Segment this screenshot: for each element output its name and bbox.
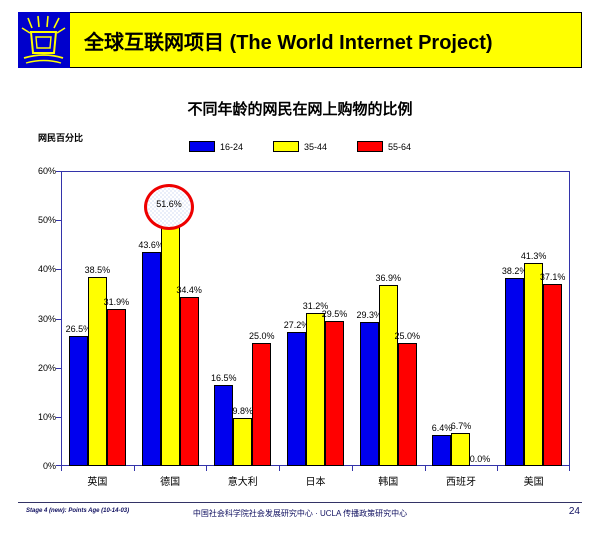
bar-group-意大利: 16.5%9.8%25.0% bbox=[206, 171, 279, 466]
bar-rect bbox=[451, 433, 470, 466]
footer-divider bbox=[18, 502, 582, 503]
bar-rect bbox=[379, 285, 398, 466]
x-tick-label-意大利: 意大利 bbox=[206, 473, 279, 488]
bar-rect bbox=[432, 435, 451, 466]
bar-意大利-35-44: 9.8% bbox=[233, 171, 252, 466]
bar-value-label: 9.8% bbox=[233, 406, 254, 416]
bar-rect bbox=[161, 212, 180, 466]
y-axis-tick-labels: 0%10%20%30%40%50%60% bbox=[22, 171, 56, 466]
bar-rect bbox=[107, 309, 126, 466]
bar-美国-55-64: 37.1% bbox=[543, 171, 562, 466]
bar-rect bbox=[325, 321, 344, 466]
bar-rect bbox=[505, 278, 524, 466]
x-tick-label-韩国: 韩国 bbox=[352, 473, 425, 488]
bar-意大利-55-64: 25.0% bbox=[252, 171, 271, 466]
bar-rect bbox=[524, 263, 543, 466]
x-tick-label-西班牙: 西班牙 bbox=[425, 473, 498, 488]
bar-value-label: 6.4% bbox=[432, 423, 453, 433]
bar-美国-16-24: 38.2% bbox=[505, 171, 524, 466]
bar-rect bbox=[142, 252, 161, 466]
bar-西班牙-16-24: 6.4% bbox=[432, 171, 451, 466]
x-tick-mark bbox=[425, 466, 426, 471]
footer-center-text: 中国社会科学院社会发展研究中心 · UCLA 传播政策研究中心 bbox=[0, 508, 600, 519]
bar-rect bbox=[398, 343, 417, 466]
bar-rect bbox=[543, 284, 562, 466]
legend-item-35-44: 35-44 bbox=[273, 141, 327, 152]
footer-page-number: 24 bbox=[569, 506, 580, 517]
y-tick-label: 10% bbox=[22, 412, 56, 422]
bar-value-label: 25.0% bbox=[394, 331, 420, 341]
legend-label-35-44: 35-44 bbox=[304, 142, 327, 152]
bar-value-label: 29.5% bbox=[322, 309, 348, 319]
bar-rect bbox=[287, 332, 306, 466]
bar-rect bbox=[360, 322, 379, 466]
bar-英国-16-24: 26.5% bbox=[69, 171, 88, 466]
bar-德国-55-64: 34.4% bbox=[180, 171, 199, 466]
monitor-rays-icon bbox=[18, 12, 70, 68]
bar-group-西班牙: 6.4%6.7%0.0% bbox=[425, 171, 498, 466]
bar-groups: 26.5%38.5%31.9%43.6%51.6%34.4%16.5%9.8%2… bbox=[61, 171, 570, 466]
x-tick-label-德国: 德国 bbox=[134, 473, 207, 488]
bar-德国-35-44: 51.6% bbox=[161, 171, 180, 466]
x-axis-tick-labels: 英国德国意大利日本韩国西班牙美国 bbox=[61, 473, 570, 488]
bar-意大利-16-24: 16.5% bbox=[214, 171, 233, 466]
bar-美国-35-44: 41.3% bbox=[524, 171, 543, 466]
bar-韩国-16-24: 29.3% bbox=[360, 171, 379, 466]
x-tick-label-美国: 美国 bbox=[497, 473, 570, 488]
chart-legend: 16-2435-4455-64 bbox=[0, 141, 600, 152]
slide-title-banner: 全球互联网项目 (The World Internet Project) bbox=[18, 12, 582, 68]
bar-韩国-35-44: 36.9% bbox=[379, 171, 398, 466]
bar-group-日本: 27.2%31.2%29.5% bbox=[279, 171, 352, 466]
bar-rect bbox=[214, 385, 233, 466]
x-tick-mark bbox=[279, 466, 280, 471]
bar-西班牙-55-64: 0.0% bbox=[470, 171, 489, 466]
bar-group-英国: 26.5%38.5%31.9% bbox=[61, 171, 134, 466]
x-tick-mark bbox=[497, 466, 498, 471]
bar-日本-55-64: 29.5% bbox=[325, 171, 344, 466]
legend-label-16-24: 16-24 bbox=[220, 142, 243, 152]
x-tick-mark bbox=[206, 466, 207, 471]
bar-rect bbox=[233, 418, 252, 466]
banner-title-area: 全球互联网项目 (The World Internet Project) bbox=[70, 12, 582, 68]
bar-value-label: 6.7% bbox=[451, 421, 472, 431]
bar-value-label: 31.9% bbox=[104, 297, 130, 307]
legend-item-16-24: 16-24 bbox=[189, 141, 243, 152]
bar-rect bbox=[69, 336, 88, 466]
bar-英国-55-64: 31.9% bbox=[107, 171, 126, 466]
legend-swatch-55-64 bbox=[357, 141, 383, 152]
y-tick-label: 0% bbox=[22, 461, 56, 471]
y-tick-label: 40% bbox=[22, 264, 56, 274]
y-tick-label: 20% bbox=[22, 363, 56, 373]
bar-group-美国: 38.2%41.3%37.1% bbox=[497, 171, 570, 466]
bar-group-韩国: 29.3%36.9%25.0% bbox=[352, 171, 425, 466]
legend-item-55-64: 55-64 bbox=[357, 141, 411, 152]
y-tick-label: 50% bbox=[22, 215, 56, 225]
y-tick-label: 60% bbox=[22, 166, 56, 176]
bar-value-label: 34.4% bbox=[176, 285, 202, 295]
bar-rect bbox=[180, 297, 199, 466]
world-internet-project-logo bbox=[18, 12, 70, 68]
bar-group-德国: 43.6%51.6%34.4% bbox=[134, 171, 207, 466]
bar-西班牙-35-44: 6.7% bbox=[451, 171, 470, 466]
x-tick-mark bbox=[61, 466, 62, 471]
x-tick-mark bbox=[352, 466, 353, 471]
bar-日本-16-24: 27.2% bbox=[287, 171, 306, 466]
bar-rect bbox=[252, 343, 271, 466]
x-tick-mark bbox=[134, 466, 135, 471]
x-tick-mark bbox=[569, 466, 570, 471]
bar-rect bbox=[306, 313, 325, 466]
legend-swatch-16-24 bbox=[189, 141, 215, 152]
legend-swatch-35-44 bbox=[273, 141, 299, 152]
bar-value-label: 37.1% bbox=[540, 272, 566, 282]
page-title: 全球互联网项目 (The World Internet Project) bbox=[84, 26, 493, 55]
bar-德国-16-24: 43.6% bbox=[142, 171, 161, 466]
bar-英国-35-44: 38.5% bbox=[88, 171, 107, 466]
chart-title: 不同年龄的网民在网上购物的比例 bbox=[0, 98, 600, 119]
x-axis-ticks bbox=[61, 466, 570, 471]
x-tick-label-日本: 日本 bbox=[279, 473, 352, 488]
bar-韩国-55-64: 25.0% bbox=[398, 171, 417, 466]
x-tick-label-英国: 英国 bbox=[61, 473, 134, 488]
bar-value-label: 0.0% bbox=[470, 454, 491, 464]
legend-label-55-64: 55-64 bbox=[388, 142, 411, 152]
y-tick-label: 30% bbox=[22, 314, 56, 324]
bar-value-label: 25.0% bbox=[249, 331, 275, 341]
